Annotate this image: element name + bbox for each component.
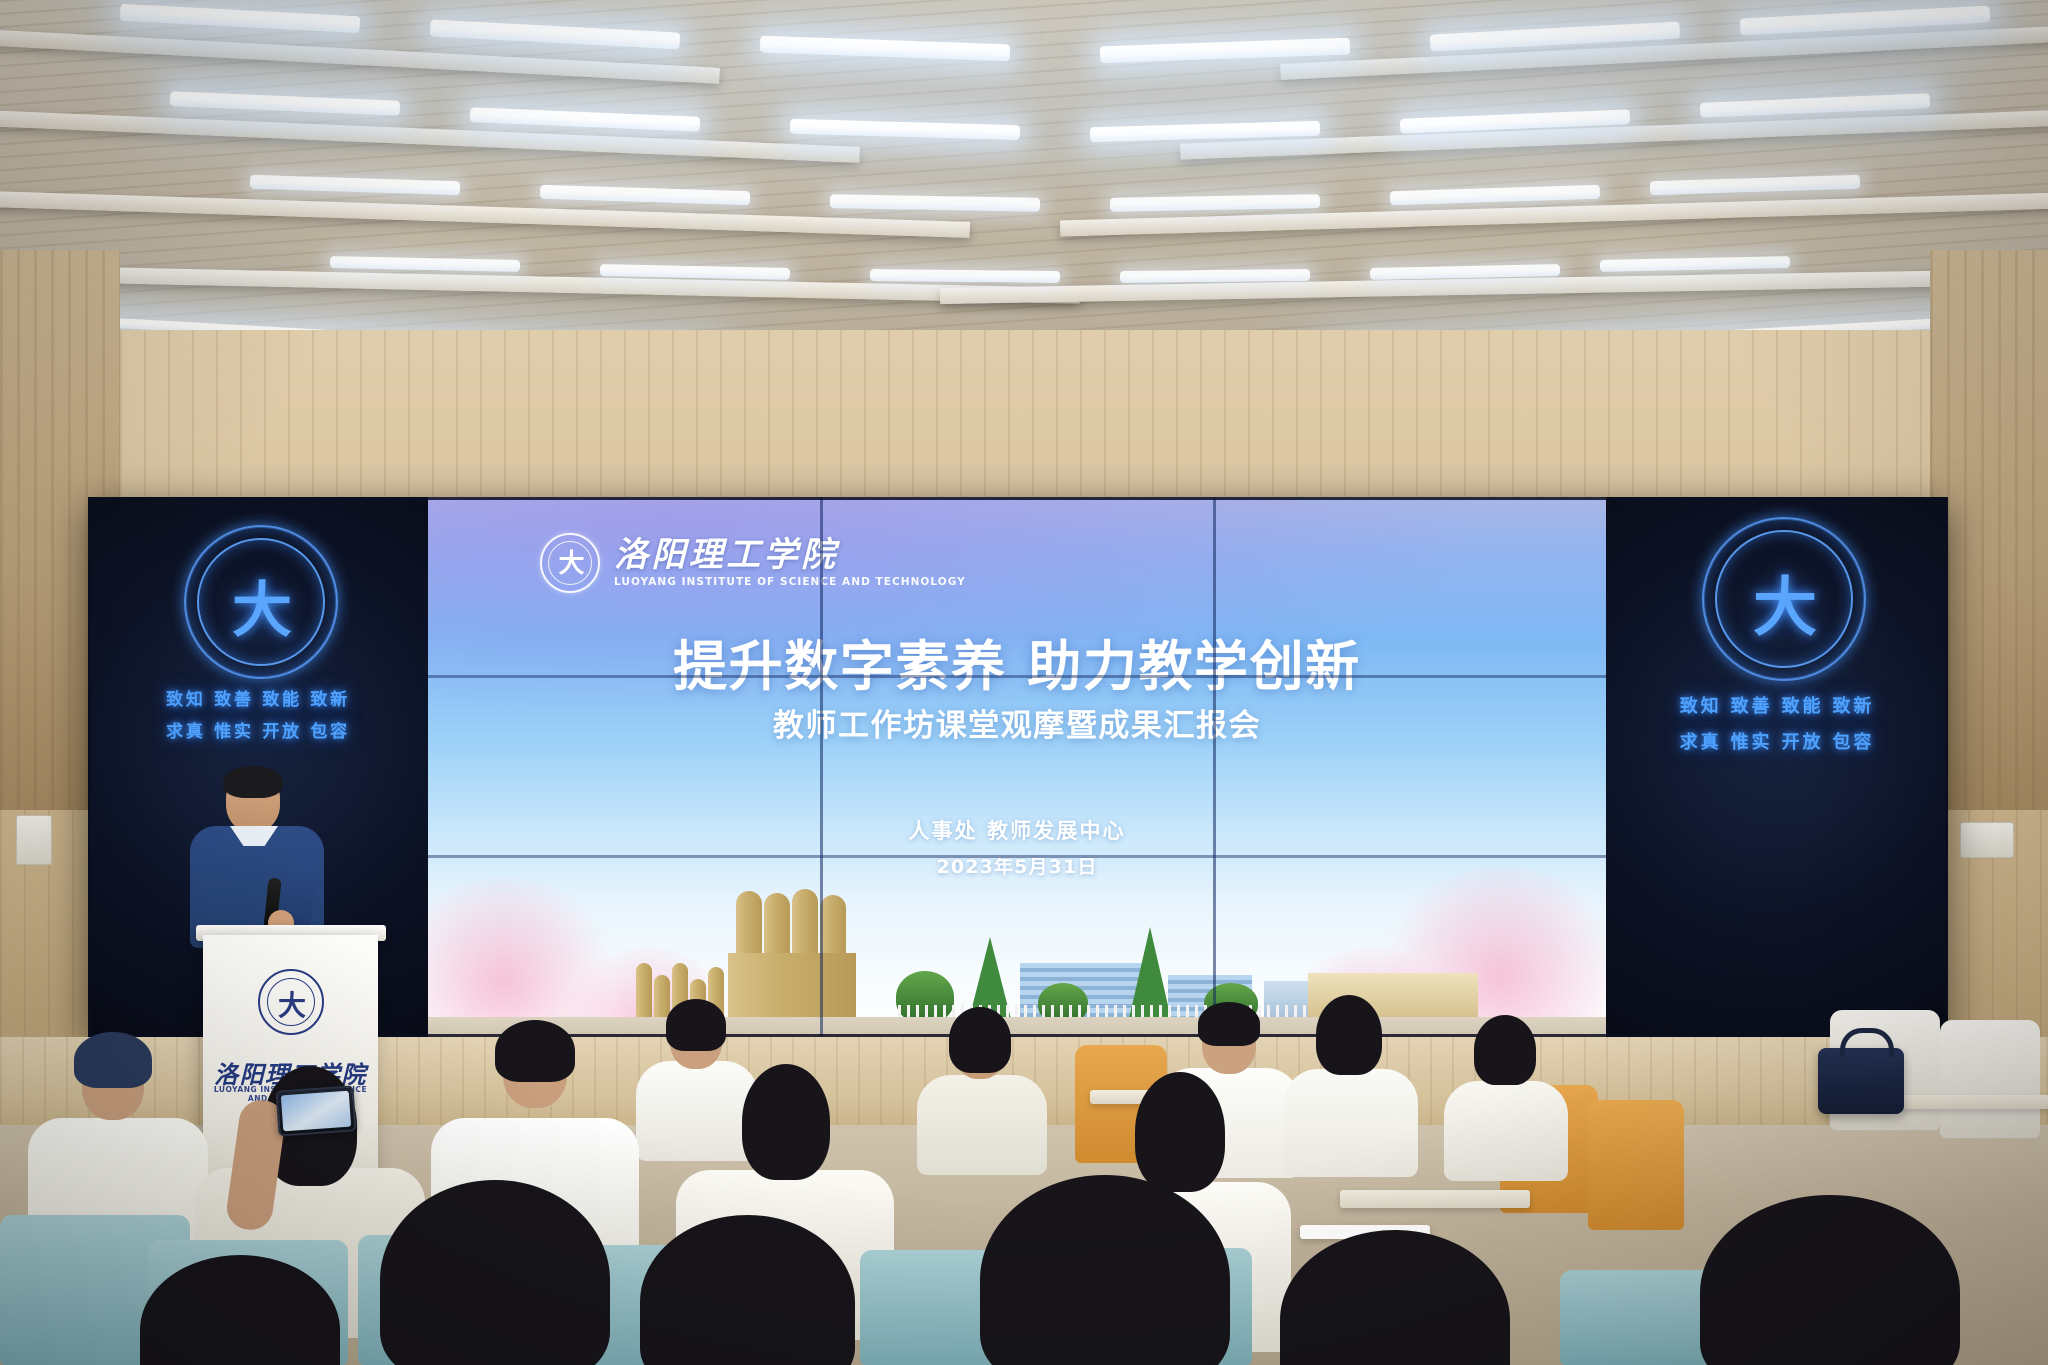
emblem-glyph: ⼤ (1753, 557, 1815, 649)
audience-hair (1316, 995, 1382, 1075)
audience-hair (1135, 1072, 1225, 1192)
audience-hair (666, 999, 726, 1051)
audience-hair (1474, 1015, 1536, 1085)
audience-hair (140, 1255, 340, 1365)
chair-mid-right[interactable] (1588, 1100, 1684, 1230)
presenter (196, 770, 326, 945)
audience-hair (980, 1175, 1230, 1365)
panel-bezel (1213, 497, 1216, 1037)
audience-member (1290, 995, 1408, 1165)
audience-member-foreground (980, 1175, 1230, 1365)
podium-seal-glyph: ⼤ (278, 984, 303, 1024)
chair-back-right[interactable] (1940, 1020, 2040, 1138)
university-emblem-icon: ⼤ (184, 525, 338, 679)
handbag-on-chair[interactable] (1818, 1048, 1904, 1114)
presenter-hair (223, 766, 283, 798)
wall-outlet (1960, 822, 2014, 858)
university-seal-icon: ⼤ (540, 533, 600, 593)
audience-hair (949, 1007, 1011, 1073)
ceiling-light (1120, 269, 1310, 283)
panel-bezel (428, 675, 1606, 678)
slide-logo-lockup: ⼤ 洛阳理工学院 LUOYANG INSTITUTE OF SCIENCE AN… (540, 533, 966, 593)
university-emblem-icon: ⼤ (1702, 517, 1866, 681)
phone-screen (281, 1091, 351, 1132)
emblem-glyph: ⼤ (232, 562, 290, 649)
audience-member (1450, 1015, 1560, 1175)
institution-name-en: LUOYANG INSTITUTE OF SCIENCE AND TECHNOL… (614, 576, 966, 588)
motto-line-2: 求真 惟实 开放 包容 (1606, 729, 1948, 757)
slide-title: 提升数字素养 助力教学创新 (428, 622, 1606, 701)
audience-torso (917, 1075, 1047, 1175)
audience-member-foreground (380, 1180, 610, 1365)
audience-member (925, 1005, 1035, 1165)
audience-torso (1284, 1069, 1418, 1177)
seal-glyph: ⼤ (558, 551, 581, 577)
audience-hair (1700, 1195, 1960, 1365)
audience-member-foreground (140, 1255, 340, 1365)
podium-seal-icon: ⼤ (258, 969, 324, 1035)
audience-hair (380, 1180, 610, 1365)
audience-member-foreground (1280, 1230, 1510, 1365)
audience-hair (1198, 1002, 1260, 1046)
audience-hair (640, 1215, 855, 1365)
motto-line-2: 求真 惟实 开放 包容 (88, 719, 428, 745)
slide-organizer: 人事处 教师发展中心 (428, 815, 1606, 845)
slide-subtitle: 教师工作坊课堂观摩暨成果汇报会 (428, 700, 1606, 745)
motto-line-1: 致知 致善 致能 致新 (1606, 693, 1948, 721)
audience-torso (1444, 1081, 1568, 1181)
desk-back-right (1900, 1095, 2048, 1109)
video-wall-right-panel: ⼤ 致知 致善 致能 致新 求真 惟实 开放 包容 (1606, 497, 1948, 1037)
audience-hair (74, 1032, 152, 1088)
ceiling-light (870, 269, 1060, 283)
motto-line-1: 致知 致善 致能 致新 (88, 687, 428, 713)
panel-bezel (428, 855, 1606, 858)
wall-outlet (16, 815, 52, 865)
desk-mid (1340, 1190, 1530, 1208)
audience-hair (495, 1020, 575, 1082)
audience-member-foreground (640, 1215, 855, 1365)
audience-member-foreground (1700, 1195, 1960, 1365)
panel-bezel (820, 497, 823, 1037)
audience-hair (742, 1064, 830, 1180)
presentation-slide[interactable]: ⼤ 洛阳理工学院 LUOYANG INSTITUTE OF SCIENCE AN… (428, 497, 1606, 1037)
smartphone-recording[interactable] (275, 1085, 356, 1136)
conference-hall-photo: ⼤ 致知 致善 致能 致新 求真 惟实 开放 包容 ⼤ 洛阳理工学院 LUOYA… (0, 0, 2048, 1365)
institution-name-cn: 洛阳理工学院 (614, 538, 966, 574)
audience-hair (1280, 1230, 1510, 1365)
